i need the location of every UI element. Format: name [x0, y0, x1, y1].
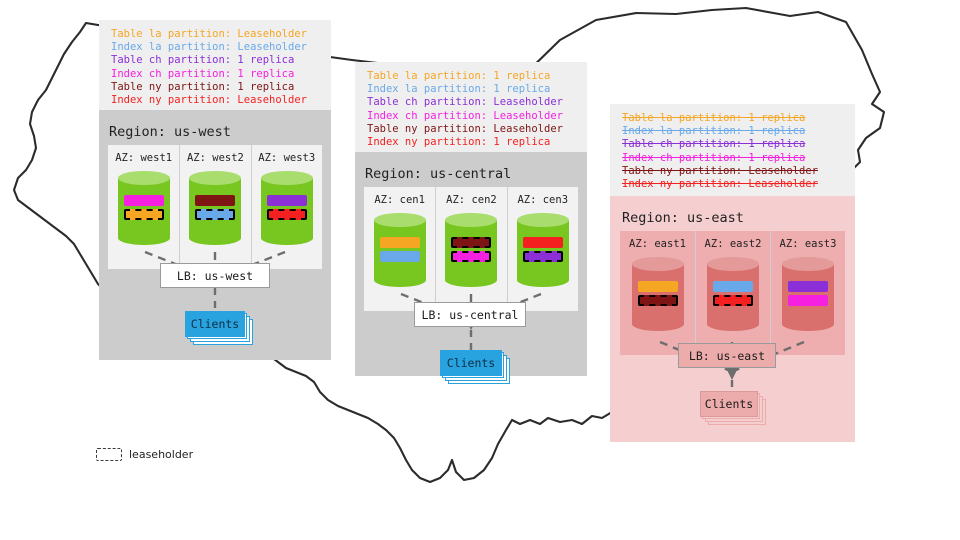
- clients-label: Clients: [185, 311, 245, 337]
- partition-line: Index ch partition: Leaseholder: [367, 110, 577, 123]
- partition-line: Table la partition: 1 replica: [367, 70, 577, 83]
- az-east2[interactable]: AZ: east2: [695, 231, 770, 355]
- legend: leaseholder: [96, 448, 193, 461]
- az-label: AZ: cen2: [446, 194, 497, 206]
- clients-label: Clients: [440, 350, 502, 376]
- az-west2[interactable]: AZ: west2: [179, 145, 250, 269]
- az-cen1[interactable]: AZ: cen1: [364, 187, 435, 311]
- partition-summary-us-east: Table la partition: 1 replica Index la p…: [610, 104, 855, 196]
- az-label: AZ: cen3: [517, 194, 568, 206]
- replica-bar: [788, 295, 828, 306]
- az-label: AZ: west2: [187, 152, 244, 164]
- replica-bar: [638, 281, 678, 292]
- replica-bar: [788, 281, 828, 292]
- region-title: Region: us-central: [365, 166, 511, 182]
- az-label: AZ: east1: [629, 238, 686, 250]
- partition-line: Table ch partition: 1 replica: [622, 138, 845, 151]
- legend-label: leaseholder: [129, 448, 193, 461]
- replica-bar: [124, 209, 164, 220]
- az-cen2[interactable]: AZ: cen2: [435, 187, 506, 311]
- az-label: AZ: east2: [705, 238, 762, 250]
- region-title: Region: us-east: [622, 210, 744, 226]
- replica-bar: [195, 209, 235, 220]
- replica-bar: [523, 251, 563, 262]
- replica-bar: [713, 281, 753, 292]
- partition-line: Table la partition: Leaseholder: [111, 28, 321, 41]
- db-node: [517, 213, 569, 287]
- az-label: AZ: west1: [115, 152, 172, 164]
- replica-bar: [195, 195, 235, 206]
- db-node: [782, 257, 834, 331]
- db-node: [261, 171, 313, 245]
- partition-summary-us-west: Table la partition: Leaseholder Index la…: [99, 20, 331, 110]
- az-row-us-central: AZ: cen1 AZ: cen2 AZ: cen3: [364, 187, 578, 311]
- replica-bar: [380, 237, 420, 248]
- clients-us-east[interactable]: Clients: [700, 391, 768, 427]
- replica-bar: [713, 295, 753, 306]
- az-label: AZ: cen1: [374, 194, 425, 206]
- db-node: [632, 257, 684, 331]
- partition-line: Index ny partition: Leaseholder: [111, 94, 321, 107]
- partition-line: Table la partition: 1 replica: [622, 112, 845, 125]
- db-node: [374, 213, 426, 287]
- partition-summary-us-central: Table la partition: 1 replica Index la p…: [355, 62, 587, 152]
- az-west3[interactable]: AZ: west3: [251, 145, 322, 269]
- partition-line: Index ch partition: 1 replica: [622, 152, 845, 165]
- clients-us-west[interactable]: Clients: [185, 311, 255, 347]
- partition-line: Index la partition: Leaseholder: [111, 41, 321, 54]
- load-balancer-us-east[interactable]: LB: us-east: [678, 343, 776, 368]
- load-balancer-us-west[interactable]: LB: us-west: [160, 263, 270, 288]
- load-balancer-us-central[interactable]: LB: us-central: [414, 302, 526, 327]
- diagram-canvas: Table la partition: Leaseholder Index la…: [0, 0, 960, 540]
- replica-bar: [124, 195, 164, 206]
- az-label: AZ: west3: [258, 152, 315, 164]
- partition-line: Table ch partition: Leaseholder: [367, 96, 577, 109]
- replica-bar: [638, 295, 678, 306]
- replica-bar: [380, 251, 420, 262]
- region-title: Region: us-west: [109, 124, 231, 140]
- clients-us-central[interactable]: Clients: [440, 350, 512, 386]
- replica-bar: [267, 195, 307, 206]
- partition-line: Index ch partition: 1 replica: [111, 68, 321, 81]
- partition-line: Table ny partition: Leaseholder: [622, 165, 845, 178]
- az-cen3[interactable]: AZ: cen3: [507, 187, 578, 311]
- replica-bar: [523, 237, 563, 248]
- leaseholder-swatch-icon: [96, 448, 122, 461]
- replica-bar: [267, 209, 307, 220]
- partition-line: Table ch partition: 1 replica: [111, 54, 321, 67]
- az-east1[interactable]: AZ: east1: [620, 231, 695, 355]
- partition-line: Table ny partition: 1 replica: [111, 81, 321, 94]
- db-node: [707, 257, 759, 331]
- az-west1[interactable]: AZ: west1: [108, 145, 179, 269]
- az-row-us-west: AZ: west1 AZ: west2 AZ: west3: [108, 145, 322, 269]
- db-node: [118, 171, 170, 245]
- db-node: [445, 213, 497, 287]
- db-node: [189, 171, 241, 245]
- partition-line: Table ny partition: Leaseholder: [367, 123, 577, 136]
- az-label: AZ: east3: [780, 238, 837, 250]
- partition-line: Index ny partition: 1 replica: [367, 136, 577, 149]
- clients-label: Clients: [700, 391, 758, 417]
- partition-line: Index ny partition: Leaseholder: [622, 178, 845, 191]
- replica-bar: [451, 251, 491, 262]
- partition-line: Index la partition: 1 replica: [367, 83, 577, 96]
- az-row-us-east: AZ: east1 AZ: east2 AZ: east3: [620, 231, 845, 355]
- replica-bar: [451, 237, 491, 248]
- partition-line: Index la partition: 1 replica: [622, 125, 845, 138]
- az-east3[interactable]: AZ: east3: [770, 231, 845, 355]
